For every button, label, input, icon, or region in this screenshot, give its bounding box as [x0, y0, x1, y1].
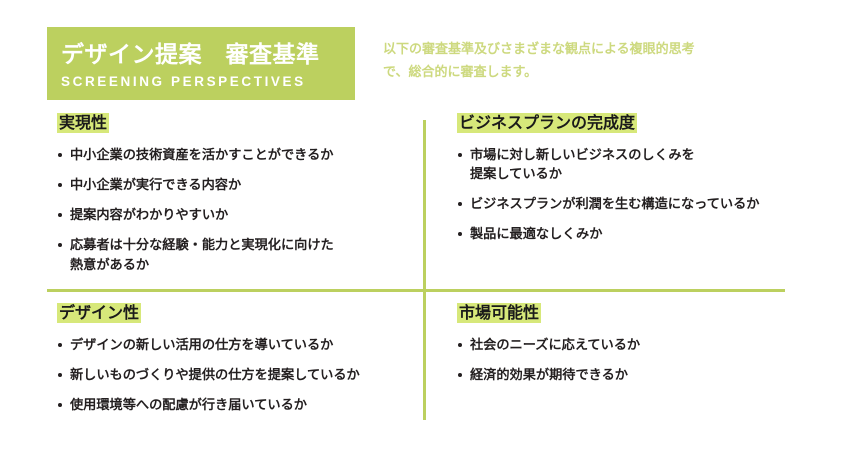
- intro-text: 以下の審査基準及びさまざまな観点による複眼的思考 で、総合的に審査します。: [383, 38, 783, 84]
- list-item: 中小企業の技術資産を活かすことができるか: [57, 145, 407, 164]
- list-item-line: 社会のニーズに応えているか: [470, 335, 817, 354]
- divider-vertical: [423, 120, 426, 420]
- header-banner: デザイン提案 審査基準 SCREENING PERSPECTIVES: [47, 27, 355, 100]
- criteria-section-jitsugensei: 実現性 中小企業の技術資産を活かすことができるか 中小企業が実行できる内容か 提…: [57, 116, 407, 274]
- list-item: 使用環境等への配慮が行き届いているか: [57, 395, 407, 414]
- criteria-list: 市場に対し新しいビジネスのしくみを 提案しているか ビジネスプランが利潤を生む構…: [457, 145, 817, 244]
- list-item: 社会のニーズに応えているか: [457, 335, 817, 354]
- criteria-section-designsei: デザイン性 デザインの新しい活用の仕方を導いているか 新しいものづくりや提供の仕…: [57, 306, 407, 414]
- list-item-line: デザインの新しい活用の仕方を導いているか: [70, 335, 407, 354]
- section-heading-text: ビジネスプランの完成度: [457, 113, 637, 133]
- list-item-line: 提案内容がわかりやすいか: [70, 205, 407, 224]
- list-item-line: 新しいものづくりや提供の仕方を提案しているか: [70, 365, 407, 384]
- criteria-section-shijo-kanousei: 市場可能性 社会のニーズに応えているか 経済的効果が期待できるか: [457, 306, 817, 384]
- section-heading-text: デザイン性: [57, 303, 141, 323]
- list-item: デザインの新しい活用の仕方を導いているか: [57, 335, 407, 354]
- criteria-list: デザインの新しい活用の仕方を導いているか 新しいものづくりや提供の仕方を提案して…: [57, 335, 407, 414]
- list-item-line: 熱意があるか: [70, 255, 407, 274]
- banner-subtitle: SCREENING PERSPECTIVES: [61, 74, 355, 89]
- list-item-line: ビジネスプランが利潤を生む構造になっているか: [470, 194, 817, 213]
- list-item: 応募者は十分な経験・能力と実現化に向けた 熱意があるか: [57, 235, 407, 273]
- criteria-list: 中小企業の技術資産を活かすことができるか 中小企業が実行できる内容か 提案内容が…: [57, 145, 407, 274]
- list-item-line: 経済的効果が期待できるか: [470, 365, 817, 384]
- divider-horizontal: [47, 289, 785, 292]
- section-heading: デザイン性: [57, 306, 407, 322]
- list-item-line: 使用環境等への配慮が行き届いているか: [70, 395, 407, 414]
- section-heading: 実現性: [57, 116, 407, 132]
- list-item: 製品に最適なしくみか: [457, 224, 817, 243]
- list-item: 提案内容がわかりやすいか: [57, 205, 407, 224]
- list-item: 経済的効果が期待できるか: [457, 365, 817, 384]
- list-item-line: 中小企業の技術資産を活かすことができるか: [70, 145, 407, 164]
- list-item-line: 製品に最適なしくみか: [470, 224, 817, 243]
- list-item-line: 提案しているか: [470, 164, 817, 183]
- section-heading-text: 実現性: [57, 113, 109, 133]
- section-heading: 市場可能性: [457, 306, 817, 322]
- section-heading: ビジネスプランの完成度: [457, 116, 817, 132]
- list-item-line: 市場に対し新しいビジネスのしくみを: [470, 145, 817, 164]
- intro-line-2: で、総合的に審査します。: [383, 61, 783, 84]
- criteria-list: 社会のニーズに応えているか 経済的効果が期待できるか: [457, 335, 817, 384]
- banner-title: デザイン提案 審査基準: [61, 41, 355, 67]
- intro-line-1: 以下の審査基準及びさまざまな観点による複眼的思考: [383, 38, 783, 61]
- list-item: 市場に対し新しいビジネスのしくみを 提案しているか: [457, 145, 817, 183]
- list-item-line: 中小企業が実行できる内容か: [70, 175, 407, 194]
- criteria-section-business-plan: ビジネスプランの完成度 市場に対し新しいビジネスのしくみを 提案しているか ビジ…: [457, 116, 817, 244]
- list-item: 新しいものづくりや提供の仕方を提案しているか: [57, 365, 407, 384]
- section-heading-text: 市場可能性: [457, 303, 541, 323]
- list-item: 中小企業が実行できる内容か: [57, 175, 407, 194]
- list-item-line: 応募者は十分な経験・能力と実現化に向けた: [70, 235, 407, 254]
- list-item: ビジネスプランが利潤を生む構造になっているか: [457, 194, 817, 213]
